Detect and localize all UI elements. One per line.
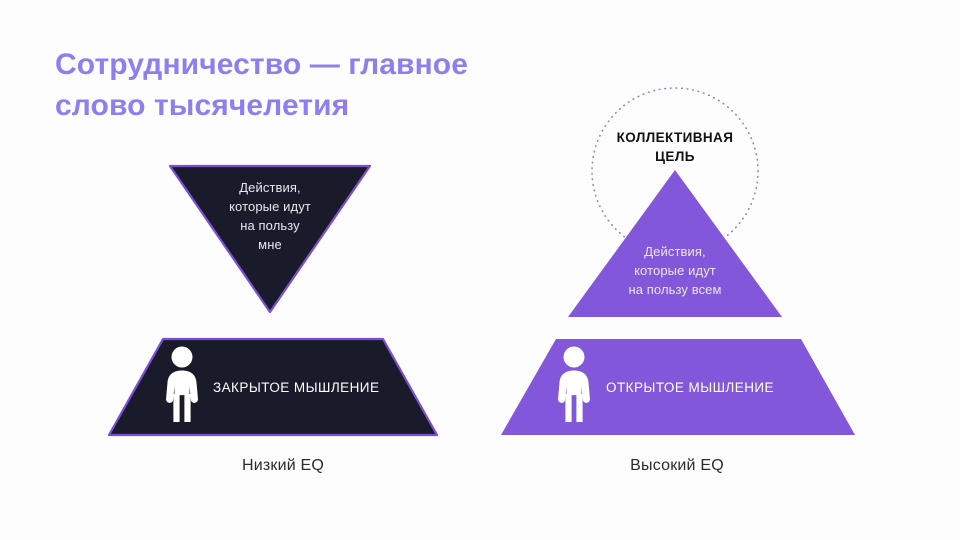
caption-low-eq: Низкий EQ xyxy=(123,457,443,475)
collective-goal-circle xyxy=(592,88,758,254)
collective-goal-label: КОЛЛЕКТИВНАЯ ЦЕЛЬ xyxy=(590,128,760,166)
open-mindset-label: ОТКРЫТОЕ МЫШЛЕНИЕ xyxy=(606,380,774,395)
upright-triangle-text: Действия, которые идут на пользу всем xyxy=(600,242,750,299)
inverted-triangle-text: Действия, которые идут на пользу мне xyxy=(195,178,345,254)
person-pictogram-icon-right xyxy=(558,347,590,423)
page-title: Сотрудничество — главное слово тысячелет… xyxy=(55,44,615,126)
person-pictogram-icon-left xyxy=(166,347,198,423)
caption-high-eq: Высокий EQ xyxy=(517,457,837,475)
closed-mindset-label: ЗАКРЫТОЕ МЫШЛЕНИЕ xyxy=(213,380,379,395)
slide-canvas: Сотрудничество — главное слово тысячелет… xyxy=(0,0,960,540)
